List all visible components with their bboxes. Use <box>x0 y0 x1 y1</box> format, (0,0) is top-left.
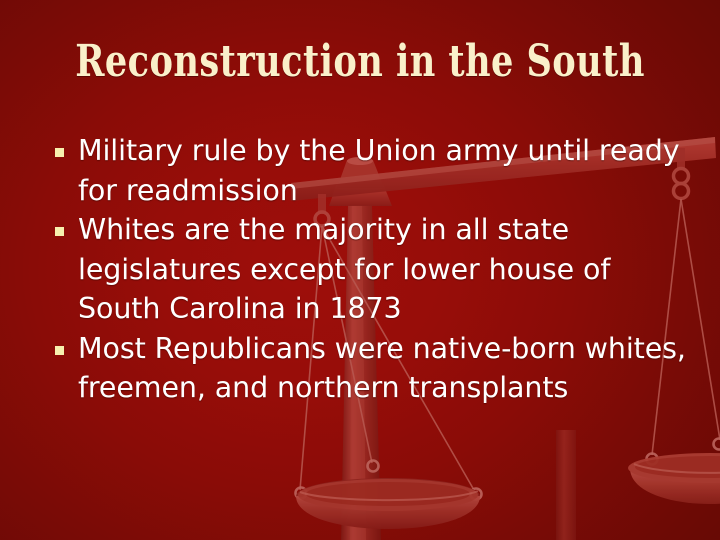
list-item: Whites are the majority in all state leg… <box>52 210 692 329</box>
presentation-slide: Reconstruction in the South Military rul… <box>0 0 720 540</box>
bullet-square-icon <box>55 148 64 157</box>
scale-right-pan <box>628 453 720 504</box>
bullet-square-icon <box>55 346 64 355</box>
bullet-list: Military rule by the Union army until re… <box>52 131 692 408</box>
scale-right-support <box>556 430 576 540</box>
list-item-text: Most Republicans were native-born whites… <box>78 329 692 408</box>
list-item: Most Republicans were native-born whites… <box>52 329 692 408</box>
title-block: Reconstruction in the South <box>0 36 720 88</box>
list-item-text: Whites are the majority in all state leg… <box>78 210 692 329</box>
list-item-text: Military rule by the Union army until re… <box>78 131 692 210</box>
list-item: Military rule by the Union army until re… <box>52 131 692 210</box>
bullet-square-icon <box>55 227 64 236</box>
scale-left-pan <box>296 478 480 529</box>
page-title: Reconstruction in the South <box>75 36 645 88</box>
